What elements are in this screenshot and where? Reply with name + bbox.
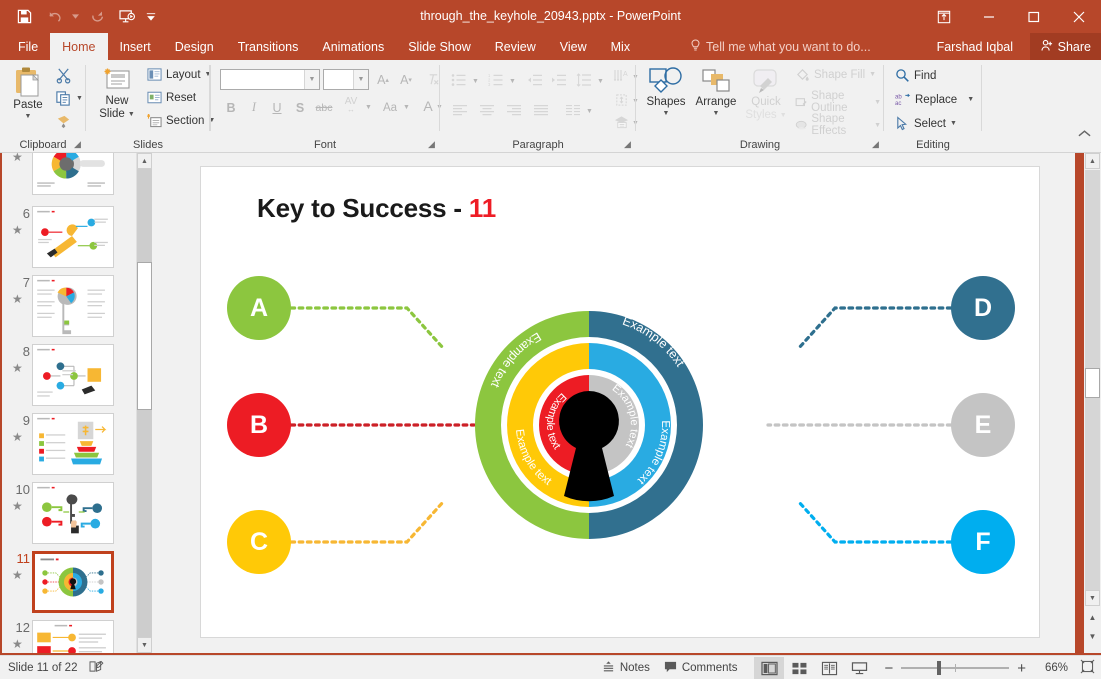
thumbnail-panel-scrollbar[interactable]: ▲ ▼ bbox=[136, 153, 151, 653]
node-d[interactable]: D bbox=[951, 276, 1015, 340]
node-e-label: E bbox=[975, 411, 992, 440]
zoom-slider-handle[interactable] bbox=[937, 661, 941, 675]
fit-slide-button[interactable] bbox=[1074, 659, 1095, 677]
thumbnail-number: 7 bbox=[4, 275, 30, 290]
shapes-label: Shapes bbox=[646, 96, 685, 108]
star-icon: ★ bbox=[12, 637, 23, 651]
ribbon-group-drawing: Shapes ▼ Arrange ▼ Quick bbox=[636, 60, 884, 153]
scroll-down-icon[interactable]: ▼ bbox=[137, 637, 152, 653]
window-controls bbox=[921, 0, 1101, 33]
new-slide-button[interactable]: New Slide ▼ bbox=[92, 64, 142, 134]
new-slide-label-1: New bbox=[105, 95, 128, 108]
layout-button[interactable]: Layout ▼ bbox=[144, 66, 214, 83]
tell-me-label: Tell me what you want to do... bbox=[706, 40, 871, 54]
accessibility-icon[interactable] bbox=[89, 660, 104, 676]
scrollbar-thumb[interactable] bbox=[137, 262, 152, 410]
next-slide-button[interactable]: ▼ bbox=[1085, 629, 1100, 644]
tab-file[interactable]: File bbox=[6, 33, 50, 60]
drawing-group-label: Drawing bbox=[636, 139, 884, 151]
convert-to-smartart-button[interactable] bbox=[610, 112, 632, 131]
zoom-controls: − + 66% bbox=[882, 659, 1095, 677]
columns-dropdown-icon[interactable]: ▼ bbox=[584, 102, 595, 121]
tab-home[interactable]: Home bbox=[50, 33, 107, 60]
strikethrough-button[interactable]: abc bbox=[314, 98, 334, 117]
thumbnail-image bbox=[32, 206, 114, 268]
keyhole-diagram[interactable]: Example text Example text Example text E… bbox=[469, 305, 709, 545]
ribbon-tabs: File Home Insert Design Transitions Anim… bbox=[6, 33, 642, 60]
lightbulb-icon bbox=[690, 39, 701, 55]
thumbnail-number: 6 bbox=[4, 206, 30, 221]
powerpoint-window: through_the_keyhole_20943.pptx - PowerPo… bbox=[0, 0, 1101, 679]
notes-icon bbox=[602, 660, 615, 676]
replace-dropdown-icon[interactable]: ▼ bbox=[967, 96, 974, 103]
underline-button[interactable]: U bbox=[267, 98, 287, 117]
line-spacing-dropdown-icon[interactable]: ▼ bbox=[595, 72, 606, 91]
character-spacing-dropdown-icon[interactable]: ▼ bbox=[363, 98, 374, 117]
tab-view[interactable]: View bbox=[548, 33, 599, 60]
ribbon-group-clipboard: Paste ▼ ▼ Clipboard ◢ bbox=[0, 60, 86, 153]
status-left: Slide 11 of 22 bbox=[8, 656, 104, 680]
copy-dropdown-icon[interactable]: ▼ bbox=[76, 95, 83, 102]
tab-insert[interactable]: Insert bbox=[108, 33, 163, 60]
svg-text:ac: ac bbox=[895, 100, 901, 107]
line-spacing-button[interactable] bbox=[573, 70, 595, 89]
quick-styles-label-1: Quick bbox=[751, 96, 780, 109]
numbering-dropdown-icon[interactable]: ▼ bbox=[507, 72, 518, 91]
zoom-slider-midpoint bbox=[955, 664, 956, 672]
arrange-label: Arrange bbox=[696, 96, 737, 108]
slide-thumbnail-11[interactable]: 11 ★ bbox=[2, 549, 152, 618]
bold-button[interactable]: B bbox=[221, 98, 241, 117]
comment-icon bbox=[664, 660, 677, 676]
text-shadow-button[interactable]: S bbox=[290, 98, 310, 117]
shapes-button[interactable]: Shapes ▼ bbox=[642, 64, 690, 134]
paragraph-dialog-launcher[interactable]: ◢ bbox=[622, 139, 633, 150]
align-right-button[interactable] bbox=[502, 100, 526, 119]
paste-dropdown-icon[interactable]: ▼ bbox=[25, 113, 32, 120]
node-c-label: C bbox=[250, 528, 268, 557]
slide-indicator[interactable]: Slide 11 of 22 bbox=[8, 662, 77, 674]
increase-font-size-button[interactable]: A▴ bbox=[373, 70, 393, 89]
align-center-button[interactable] bbox=[475, 100, 499, 119]
share-button[interactable]: Share bbox=[1030, 33, 1101, 60]
thumbnail-number: 9 bbox=[4, 413, 30, 428]
replace-label: Replace bbox=[915, 94, 957, 106]
ribbon-group-slides: New Slide ▼ Layout ▼ Reset Section ▼ Sli bbox=[86, 60, 210, 153]
reset-button[interactable]: Reset bbox=[144, 89, 199, 106]
slideshow-button[interactable] bbox=[844, 657, 874, 679]
zoom-out-button[interactable]: − bbox=[882, 660, 895, 677]
cut-button[interactable] bbox=[52, 66, 75, 85]
collapse-ribbon-button[interactable] bbox=[1075, 128, 1094, 139]
slide-thumbnail-9[interactable]: 9 ★ bbox=[2, 411, 152, 480]
font-name-dropdown-icon[interactable]: ▼ bbox=[304, 70, 319, 89]
slide-sorter-button[interactable] bbox=[784, 657, 814, 679]
current-slide[interactable]: Key to Success - 11 bbox=[200, 166, 1040, 638]
font-name-input[interactable]: ▼ bbox=[220, 69, 320, 90]
ribbon-group-paragraph: ▼ 123 ▼ ▼ A ▼ ▼ bbox=[440, 60, 636, 153]
svg-text:3: 3 bbox=[488, 82, 491, 87]
font-group-label: Font bbox=[210, 139, 440, 151]
paragraph-group-label: Paragraph bbox=[440, 139, 636, 151]
decrease-font-size-button[interactable]: A▾ bbox=[396, 70, 416, 89]
comments-label: Comments bbox=[682, 662, 738, 674]
shape-effects-label: Shape Effects bbox=[811, 113, 870, 137]
zoom-level-label[interactable]: 66% bbox=[1034, 662, 1068, 674]
italic-button[interactable]: I bbox=[244, 98, 264, 117]
change-case-dropdown-icon[interactable]: ▼ bbox=[401, 98, 412, 117]
text-direction-button[interactable]: A bbox=[610, 66, 632, 85]
node-e[interactable]: E bbox=[951, 393, 1015, 457]
drawing-dialog-launcher[interactable]: ◢ bbox=[870, 139, 881, 150]
reset-label: Reset bbox=[166, 92, 196, 104]
normal-view-button[interactable] bbox=[754, 657, 784, 679]
section-label: Section bbox=[166, 115, 204, 127]
star-icon: ★ bbox=[12, 499, 23, 513]
increase-indent-button[interactable] bbox=[548, 70, 570, 89]
quick-styles-dropdown-icon[interactable]: ▼ bbox=[780, 112, 787, 119]
zoom-in-button[interactable]: + bbox=[1015, 660, 1028, 677]
new-slide-label-2: Slide bbox=[99, 108, 125, 121]
decrease-indent-button[interactable] bbox=[524, 70, 546, 89]
thumbnail-image bbox=[32, 153, 114, 195]
bullets-dropdown-icon[interactable]: ▼ bbox=[470, 72, 481, 91]
tab-animations[interactable]: Animations bbox=[310, 33, 396, 60]
tab-design[interactable]: Design bbox=[163, 33, 226, 60]
paste-label: Paste bbox=[13, 99, 42, 111]
status-right: Notes Comments − bbox=[595, 656, 1095, 680]
thumbnail-image bbox=[32, 275, 114, 337]
ribbon-group-editing: Find abac Replace ▼ Select ▼ Editing bbox=[884, 60, 982, 153]
character-spacing-button[interactable]: AV↔ bbox=[338, 96, 364, 115]
columns-button[interactable] bbox=[562, 100, 584, 119]
share-person-icon bbox=[1040, 39, 1053, 55]
account-name[interactable]: Farshad Iqbal bbox=[937, 33, 1013, 60]
thumbnail-image bbox=[32, 482, 114, 544]
justify-button[interactable] bbox=[529, 100, 553, 119]
star-icon: ★ bbox=[12, 153, 23, 164]
node-a-label: A bbox=[250, 294, 268, 323]
arrange-dropdown-icon[interactable]: ▼ bbox=[713, 110, 720, 117]
title-bar: through_the_keyhole_20943.pptx - PowerPo… bbox=[0, 0, 1101, 33]
slide-area-scrollbar[interactable]: ▲ ▼ ▲ ▼ bbox=[1084, 153, 1101, 653]
thumbnail-image bbox=[32, 344, 114, 406]
tab-slide-show[interactable]: Slide Show bbox=[396, 33, 483, 60]
star-icon: ★ bbox=[12, 223, 23, 237]
thumbnail-image bbox=[32, 620, 114, 653]
clipboard-dialog-launcher[interactable]: ◢ bbox=[72, 139, 83, 150]
star-icon: ★ bbox=[12, 292, 23, 306]
scroll-up-icon[interactable]: ▲ bbox=[137, 153, 152, 169]
slide-thumbnail-5[interactable]: 5 ★ bbox=[2, 153, 152, 200]
tell-me-search[interactable]: Tell me what you want to do... bbox=[690, 33, 871, 60]
shape-effects-dropdown-icon[interactable]: ▼ bbox=[874, 122, 881, 129]
node-f-label: F bbox=[975, 528, 990, 557]
ribbon-group-font: ▼ ▼ A▴ A▾ B I U S abc AV↔ ▼ Aa ▼ A ▼ Fon… bbox=[210, 60, 440, 153]
thumbnail-number: 10 bbox=[4, 482, 30, 497]
slide-thumbnail-6[interactable]: 6 ★ bbox=[2, 204, 152, 273]
editing-group-label: Editing bbox=[884, 139, 982, 151]
numbering-button[interactable]: 123 bbox=[485, 70, 507, 89]
shape-effects-button[interactable]: Shape Effects ▼ bbox=[792, 112, 884, 138]
format-painter-button[interactable] bbox=[52, 112, 75, 131]
notes-button[interactable]: Notes bbox=[595, 658, 657, 678]
maximize-icon[interactable] bbox=[1011, 0, 1056, 33]
font-size-dropdown-icon[interactable]: ▼ bbox=[353, 70, 368, 89]
star-icon: ★ bbox=[12, 361, 23, 375]
svg-text:A: A bbox=[623, 71, 628, 78]
arrange-button[interactable]: Arrange ▼ bbox=[692, 64, 740, 134]
node-d-label: D bbox=[974, 294, 992, 323]
star-icon: ★ bbox=[12, 568, 23, 582]
font-dialog-launcher[interactable]: ◢ bbox=[426, 139, 437, 150]
shape-outline-dropdown-icon[interactable]: ▼ bbox=[874, 99, 881, 106]
slide-thumbnail-8[interactable]: 8 ★ bbox=[2, 342, 152, 411]
shape-outline-label: Shape Outline bbox=[811, 90, 870, 114]
close-icon[interactable] bbox=[1056, 0, 1101, 33]
section-button[interactable]: Section ▼ bbox=[144, 112, 218, 129]
reading-view-button[interactable] bbox=[814, 657, 844, 679]
node-b[interactable]: B bbox=[227, 393, 291, 457]
replace-button[interactable]: abac Replace ▼ bbox=[892, 91, 977, 108]
new-slide-dropdown-icon[interactable]: ▼ bbox=[128, 111, 135, 118]
slide-thumbnail-12[interactable]: 12 ★ bbox=[2, 618, 152, 653]
quick-styles-label-2: Styles bbox=[745, 109, 776, 122]
copy-button[interactable]: ▼ bbox=[52, 89, 86, 108]
zoom-slider[interactable] bbox=[901, 660, 1009, 676]
change-case-button[interactable]: Aa bbox=[378, 98, 402, 117]
paste-button[interactable]: Paste ▼ bbox=[6, 64, 50, 130]
scrollbar-thumb[interactable] bbox=[1085, 368, 1100, 398]
quick-styles-button[interactable]: Quick Styles ▼ bbox=[742, 64, 790, 134]
previous-slide-button[interactable]: ▲ bbox=[1085, 610, 1100, 625]
slide-editing-area[interactable]: Key to Success - 11 bbox=[152, 153, 1075, 653]
notes-label: Notes bbox=[620, 662, 650, 674]
font-size-input[interactable]: ▼ bbox=[323, 69, 369, 90]
slides-group-label: Slides bbox=[86, 139, 210, 151]
thumbnail-image bbox=[32, 551, 114, 613]
tab-transitions[interactable]: Transitions bbox=[226, 33, 311, 60]
align-text-button[interactable] bbox=[610, 90, 632, 109]
ribbon-display-options-icon[interactable] bbox=[921, 0, 966, 33]
shape-fill-button[interactable]: Shape Fill ▼ bbox=[792, 66, 879, 83]
node-c[interactable]: C bbox=[227, 510, 291, 574]
share-label: Share bbox=[1058, 40, 1091, 54]
minimize-icon[interactable] bbox=[966, 0, 1011, 33]
node-a[interactable]: A bbox=[227, 276, 291, 340]
status-bar: Slide 11 of 22 Notes Comments bbox=[0, 655, 1101, 679]
shape-fill-label: Shape Fill bbox=[814, 69, 865, 81]
shape-fill-dropdown-icon[interactable]: ▼ bbox=[869, 71, 876, 78]
thumbnail-number: 8 bbox=[4, 344, 30, 359]
thumbnail-number: 11 bbox=[4, 551, 30, 566]
shapes-dropdown-icon[interactable]: ▼ bbox=[663, 110, 670, 117]
thumbnail-image bbox=[32, 413, 114, 475]
align-left-button[interactable] bbox=[448, 100, 472, 119]
node-b-label: B bbox=[250, 411, 268, 440]
select-dropdown-icon[interactable]: ▼ bbox=[950, 120, 957, 127]
scroll-down-icon[interactable]: ▼ bbox=[1085, 590, 1100, 606]
layout-label: Layout bbox=[166, 69, 201, 81]
comments-button[interactable]: Comments bbox=[657, 658, 745, 678]
ribbon-tab-bar: File Home Insert Design Transitions Anim… bbox=[0, 33, 1101, 60]
ribbon: Paste ▼ ▼ Clipboard ◢ bbox=[0, 60, 1101, 153]
scroll-up-icon[interactable]: ▲ bbox=[1085, 153, 1100, 169]
star-icon: ★ bbox=[12, 430, 23, 444]
slide-thumbnail-7[interactable]: 7 ★ bbox=[2, 273, 152, 342]
node-f[interactable]: F bbox=[951, 510, 1015, 574]
select-label: Select bbox=[914, 118, 946, 130]
select-button[interactable]: Select ▼ bbox=[892, 115, 960, 132]
thumbnail-number: 12 bbox=[4, 620, 30, 635]
bullets-button[interactable] bbox=[448, 70, 470, 89]
tab-mix[interactable]: Mix bbox=[599, 33, 642, 60]
find-button[interactable]: Find bbox=[892, 67, 939, 84]
slide-thumbnail-10[interactable]: 10 ★ bbox=[2, 480, 152, 549]
tab-review[interactable]: Review bbox=[483, 33, 548, 60]
find-label: Find bbox=[914, 70, 936, 82]
slide-thumbnail-panel[interactable]: 5 ★ 6 ★ bbox=[2, 153, 152, 653]
